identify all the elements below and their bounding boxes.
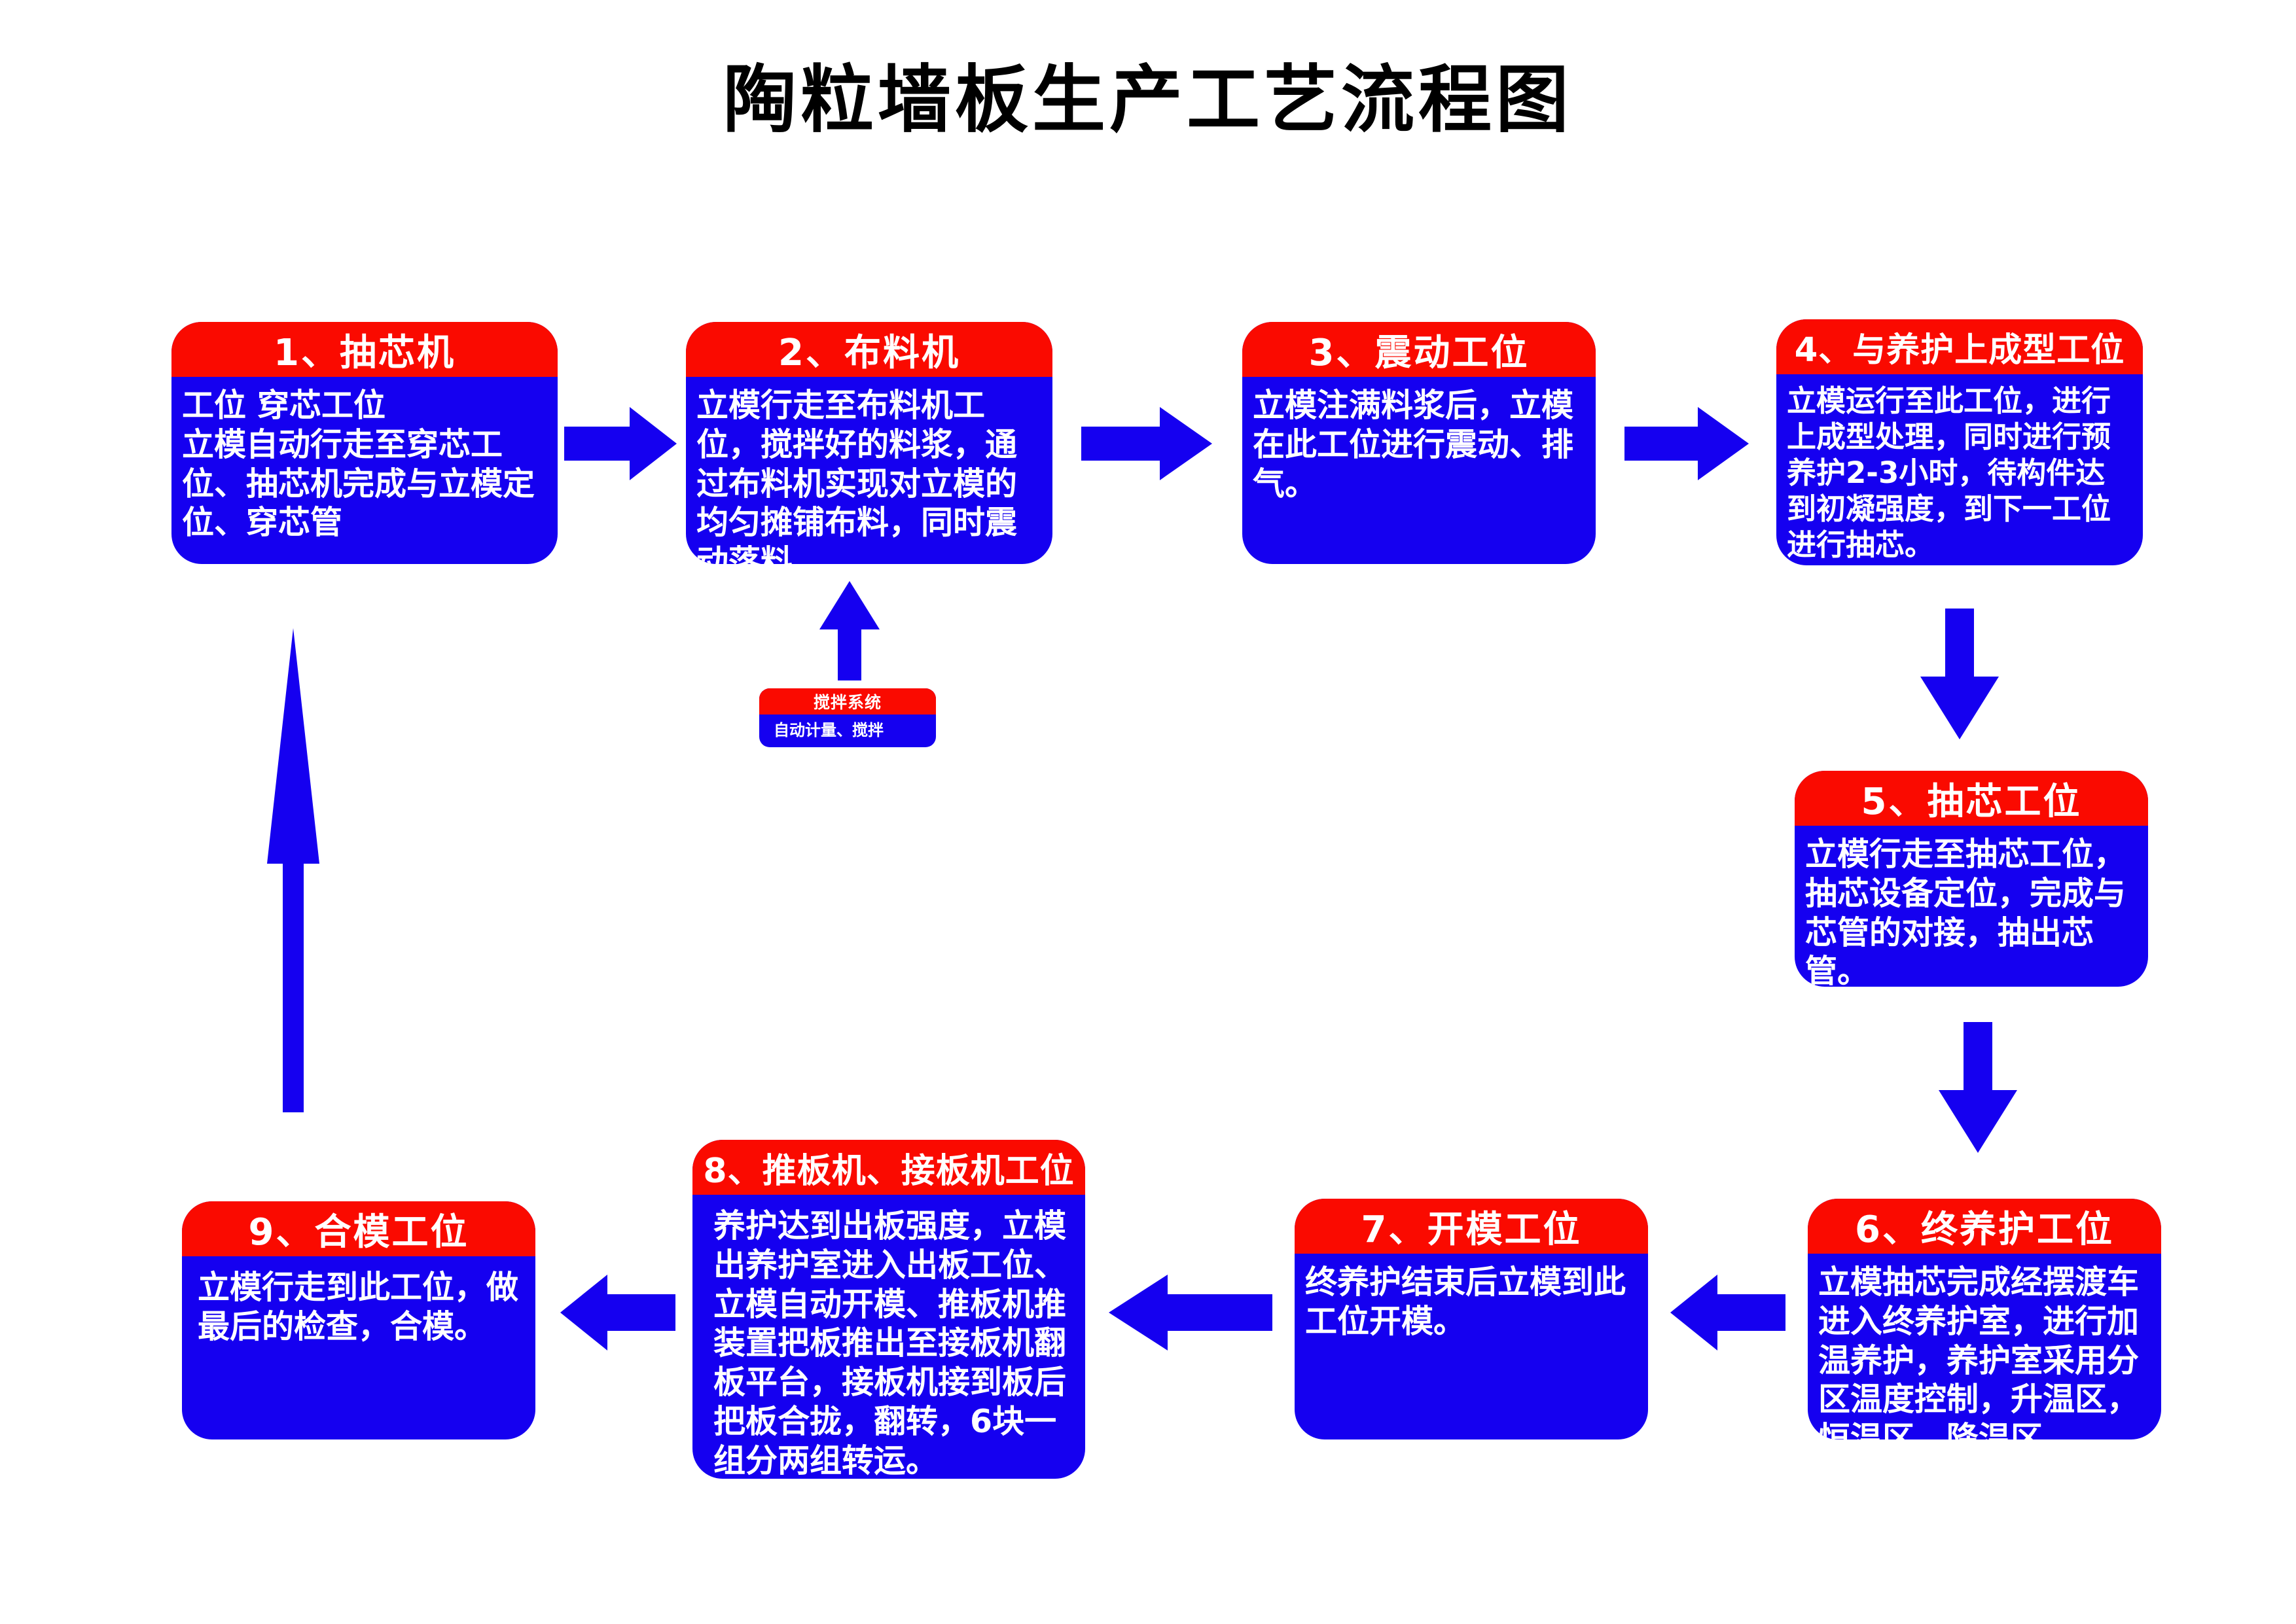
process-node-4-header: 4、与养护上成型工位 bbox=[1776, 319, 2143, 374]
process-node-2[interactable]: 2、布料机 立模行走至布料机工位，搅拌好的料浆，通过布料机实现对立模的均匀摊铺布… bbox=[686, 322, 1052, 564]
process-node-8-header: 8、推板机、接板机工位 bbox=[692, 1140, 1085, 1195]
mixing-system-body: 自动计量、搅拌 bbox=[759, 715, 936, 747]
process-node-3-body: 立模注满料浆后，立模在此工位进行震动、排气。 bbox=[1242, 377, 1596, 564]
process-node-2-header: 2、布料机 bbox=[686, 322, 1052, 377]
mixing-system-header: 搅拌系统 bbox=[759, 688, 936, 715]
process-node-8-body: 养护达到出板强度，立模出养护室进入出板工位、立模自动开模、推板机推装置把板推出至… bbox=[692, 1195, 1085, 1479]
process-node-4[interactable]: 4、与养护上成型工位 立模运行至此工位，进行上成型处理，同时进行预养护2-3小时… bbox=[1776, 319, 2143, 565]
process-node-8[interactable]: 8、推板机、接板机工位 养护达到出板强度，立模出养护室进入出板工位、立模自动开模… bbox=[692, 1140, 1085, 1479]
process-node-7-header: 7、开模工位 bbox=[1295, 1199, 1648, 1254]
arrow-up-icon-mixer-to-node2 bbox=[819, 581, 880, 680]
process-node-1-body: 工位 穿芯工位 立模自动行走至穿芯工位、抽芯机完成与立模定位、穿芯管 bbox=[171, 377, 558, 564]
process-node-5[interactable]: 5、抽芯工位 立模行走至抽芯工位，抽芯设备定位，完成与芯管的对接，抽出芯管。 bbox=[1795, 771, 2148, 987]
arrow-down-icon-node4-to-node5 bbox=[1920, 609, 1999, 739]
process-node-6-header: 6、终养护工位 bbox=[1808, 1199, 2161, 1254]
arrow-down-icon-node5-to-node6 bbox=[1939, 1022, 2017, 1153]
page-title: 陶粒墙板生产工艺流程图 bbox=[0, 62, 2296, 139]
process-node-6[interactable]: 6、终养护工位 立模抽芯完成经摆渡车进入终养护室，进行加温养护，养护室采用分区温… bbox=[1808, 1199, 2161, 1439]
process-node-2-body: 立模行走至布料机工位，搅拌好的料浆，通过布料机实现对立模的均匀摊铺布料，同时震动… bbox=[686, 377, 1052, 564]
process-node-9-header: 9、合模工位 bbox=[182, 1201, 535, 1256]
process-node-3-header: 3、震动工位 bbox=[1242, 322, 1596, 377]
process-node-6-body: 立模抽芯完成经摆渡车进入终养护室，进行加温养护，养护室采用分区温度控制，升温区，… bbox=[1808, 1254, 2161, 1439]
process-node-3[interactable]: 3、震动工位 立模注满料浆后，立模在此工位进行震动、排气。 bbox=[1242, 322, 1596, 564]
process-node-5-body: 立模行走至抽芯工位，抽芯设备定位，完成与芯管的对接，抽出芯管。 bbox=[1795, 826, 2148, 987]
arrow-right-icon-node1-to-node2 bbox=[564, 407, 677, 480]
arrow-up-icon-node9-to-node1 bbox=[260, 628, 326, 1112]
process-node-7-body: 终养护结束后立模到此工位开模。 bbox=[1295, 1254, 1648, 1439]
arrow-left-icon-node7-to-node8 bbox=[1109, 1275, 1272, 1350]
process-node-9[interactable]: 9、合模工位 立模行走到此工位，做最后的检查，合模。 bbox=[182, 1201, 535, 1439]
process-node-4-body: 立模运行至此工位，进行上成型处理，同时进行预养护2-3小时，待构件达到初凝强度，… bbox=[1776, 374, 2143, 565]
process-node-9-body: 立模行走到此工位，做最后的检查，合模。 bbox=[182, 1256, 535, 1439]
flowchart-canvas: 陶粒墙板生产工艺流程图 1、抽芯机 工位 穿芯工位 立模自动行走至穿芯工位、抽芯… bbox=[0, 0, 2296, 1624]
process-node-1[interactable]: 1、抽芯机 工位 穿芯工位 立模自动行走至穿芯工位、抽芯机完成与立模定位、穿芯管 bbox=[171, 322, 558, 564]
mixing-system-node[interactable]: 搅拌系统 自动计量、搅拌 bbox=[759, 688, 936, 747]
arrow-right-icon-node3-to-node4 bbox=[1624, 407, 1749, 480]
arrow-right-icon-node2-to-node3 bbox=[1081, 407, 1212, 480]
process-node-7[interactable]: 7、开模工位 终养护结束后立模到此工位开模。 bbox=[1295, 1199, 1648, 1439]
process-node-1-header: 1、抽芯机 bbox=[171, 322, 558, 377]
process-node-5-header: 5、抽芯工位 bbox=[1795, 771, 2148, 826]
arrow-left-icon-node6-to-node7 bbox=[1670, 1275, 1785, 1350]
arrow-left-icon-node8-to-node9 bbox=[560, 1275, 675, 1350]
